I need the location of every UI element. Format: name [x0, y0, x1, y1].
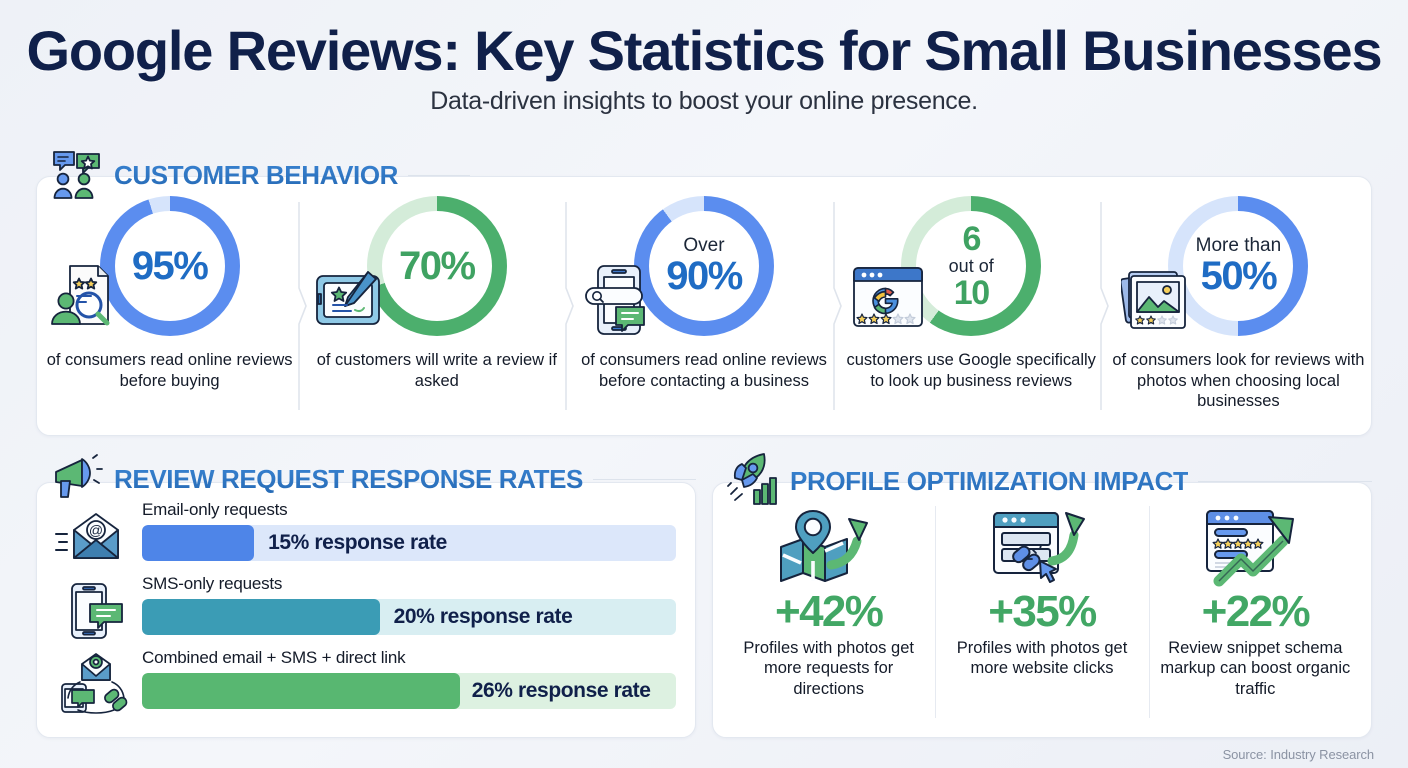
browser-stars-trend-icon [1199, 502, 1311, 588]
behavior-value-prefix: Over [683, 236, 724, 255]
source-note: Source: Industry Research [1223, 747, 1374, 762]
behavior-stat-70: 70% of customers will write a review i [303, 176, 570, 436]
cell-divider [1098, 202, 1112, 410]
phone-sms-icon [66, 582, 128, 645]
donut-center-label: 70% [382, 211, 492, 321]
browser-link-cursor-icon [986, 502, 1098, 588]
behavior-caption: of consumers read online reviews before … [36, 350, 303, 391]
bar-fill [142, 599, 380, 635]
bar-row-sms: SMS-only requests 20% response rate [54, 574, 676, 644]
header: Google Reviews: Key Statistics for Small… [0, 0, 1408, 116]
behavior-stat-95: 95% of consumers read onl [36, 176, 303, 436]
email-envelope-at-icon: @ [54, 508, 130, 569]
behavior-caption: of customers will write a review if aske… [303, 350, 570, 391]
response-rates-header: REVIEW REQUEST RESPONSE RATES [50, 452, 696, 507]
photo-stack-stars-icon [1121, 262, 1197, 339]
bar-fill [142, 525, 254, 561]
email-sms-link-icon [56, 652, 136, 719]
bar-track: 20% response rate [142, 599, 676, 635]
behavior-value: 70% [399, 246, 475, 286]
behavior-caption: customers use Google specifically to loo… [838, 350, 1105, 391]
page-subtitle: Data-driven insights to boost your onlin… [0, 87, 1408, 116]
profile-optimization-stats: +42% Profiles with photos get more reque… [712, 482, 1372, 738]
donut-center-label: 6 out of 10 [916, 211, 1026, 321]
bar-track: 26% response rate [142, 673, 676, 709]
behavior-value: 95% [132, 246, 208, 286]
customer-behavior-stats: 95% of consumers read onl [36, 176, 1372, 436]
google-browser-stars-icon [850, 262, 930, 337]
svg-text:@: @ [89, 522, 103, 538]
behavior-caption: of consumers read online reviews before … [570, 350, 837, 391]
profile-stat-35: +35% Profiles with photos get more websi… [935, 498, 1148, 724]
bar-row-combined: Combined email + SMS + direct link 26% r… [54, 648, 676, 718]
section-rule [1198, 481, 1372, 482]
people-speech-bubbles-icon [50, 146, 104, 205]
behavior-stat-90: Over 90% of consu [570, 176, 837, 436]
bar-label: Combined email + SMS + direct link [142, 648, 676, 668]
bar-fill [142, 673, 460, 709]
donut-center-label: 95% [115, 211, 225, 321]
cell-divider [296, 202, 310, 410]
behavior-value-prefix: 6 [962, 222, 979, 256]
profile-value: +42% [775, 590, 882, 634]
response-rates-title: REVIEW REQUEST RESPONSE RATES [114, 464, 583, 495]
behavior-value-prefix: More than [1196, 236, 1282, 255]
bar-row-email: @ Email-only requests 15% response rate [54, 500, 676, 570]
page-title: Google Reviews: Key Statistics for Small… [0, 22, 1408, 80]
behavior-stat-50: More than 50% [1105, 176, 1372, 436]
profile-optimization-header: PROFILE OPTIMIZATION IMPACT [726, 452, 1372, 511]
bar-label: SMS-only requests [142, 574, 676, 594]
phone-search-chat-icon [584, 260, 666, 345]
behavior-value: 10 [954, 276, 989, 310]
profile-stat-42: +42% Profiles with photos get more reque… [722, 498, 935, 724]
cell-divider [563, 202, 577, 410]
profile-stat-22: +22% Review snippet schema markup can bo… [1149, 498, 1362, 724]
behavior-value: 50% [1201, 256, 1277, 296]
bar-value-text: 15% response rate [268, 531, 447, 555]
bar-value-text: 26% response rate [472, 679, 651, 703]
bar-track: 15% response rate [142, 525, 676, 561]
behavior-value-middle: out of [949, 257, 994, 275]
bar-value-text: 20% response rate [394, 605, 573, 629]
donut-center-label: More than 50% [1183, 211, 1293, 321]
profile-value: +22% [1202, 590, 1309, 634]
map-pin-arrow-up-icon [773, 502, 885, 588]
cell-divider [831, 202, 845, 410]
profile-optimization-title: PROFILE OPTIMIZATION IMPACT [790, 466, 1188, 497]
behavior-caption: of consumers look for reviews with photo… [1105, 350, 1372, 412]
customer-behavior-title: CUSTOMER BEHAVIOR [114, 160, 398, 191]
customer-behavior-header: CUSTOMER BEHAVIOR [50, 146, 470, 205]
behavior-stat-6-of-10: 6 out of 10 [838, 176, 1105, 436]
tablet-pencil-star-icon [311, 262, 397, 341]
profile-value: +35% [988, 590, 1095, 634]
rocket-growth-chart-icon [726, 452, 780, 511]
profile-caption: Review snippet schema markup can boost o… [1157, 638, 1354, 699]
section-rule [408, 175, 470, 176]
review-document-magnifier-icon [44, 254, 128, 341]
behavior-value: 90% [666, 256, 742, 296]
megaphone-icon [50, 452, 104, 507]
profile-caption: Profiles with photos get more requests f… [730, 638, 927, 699]
section-rule [593, 479, 696, 480]
profile-caption: Profiles with photos get more website cl… [943, 638, 1140, 679]
response-rates-bars: @ Email-only requests 15% response rate [36, 482, 696, 738]
